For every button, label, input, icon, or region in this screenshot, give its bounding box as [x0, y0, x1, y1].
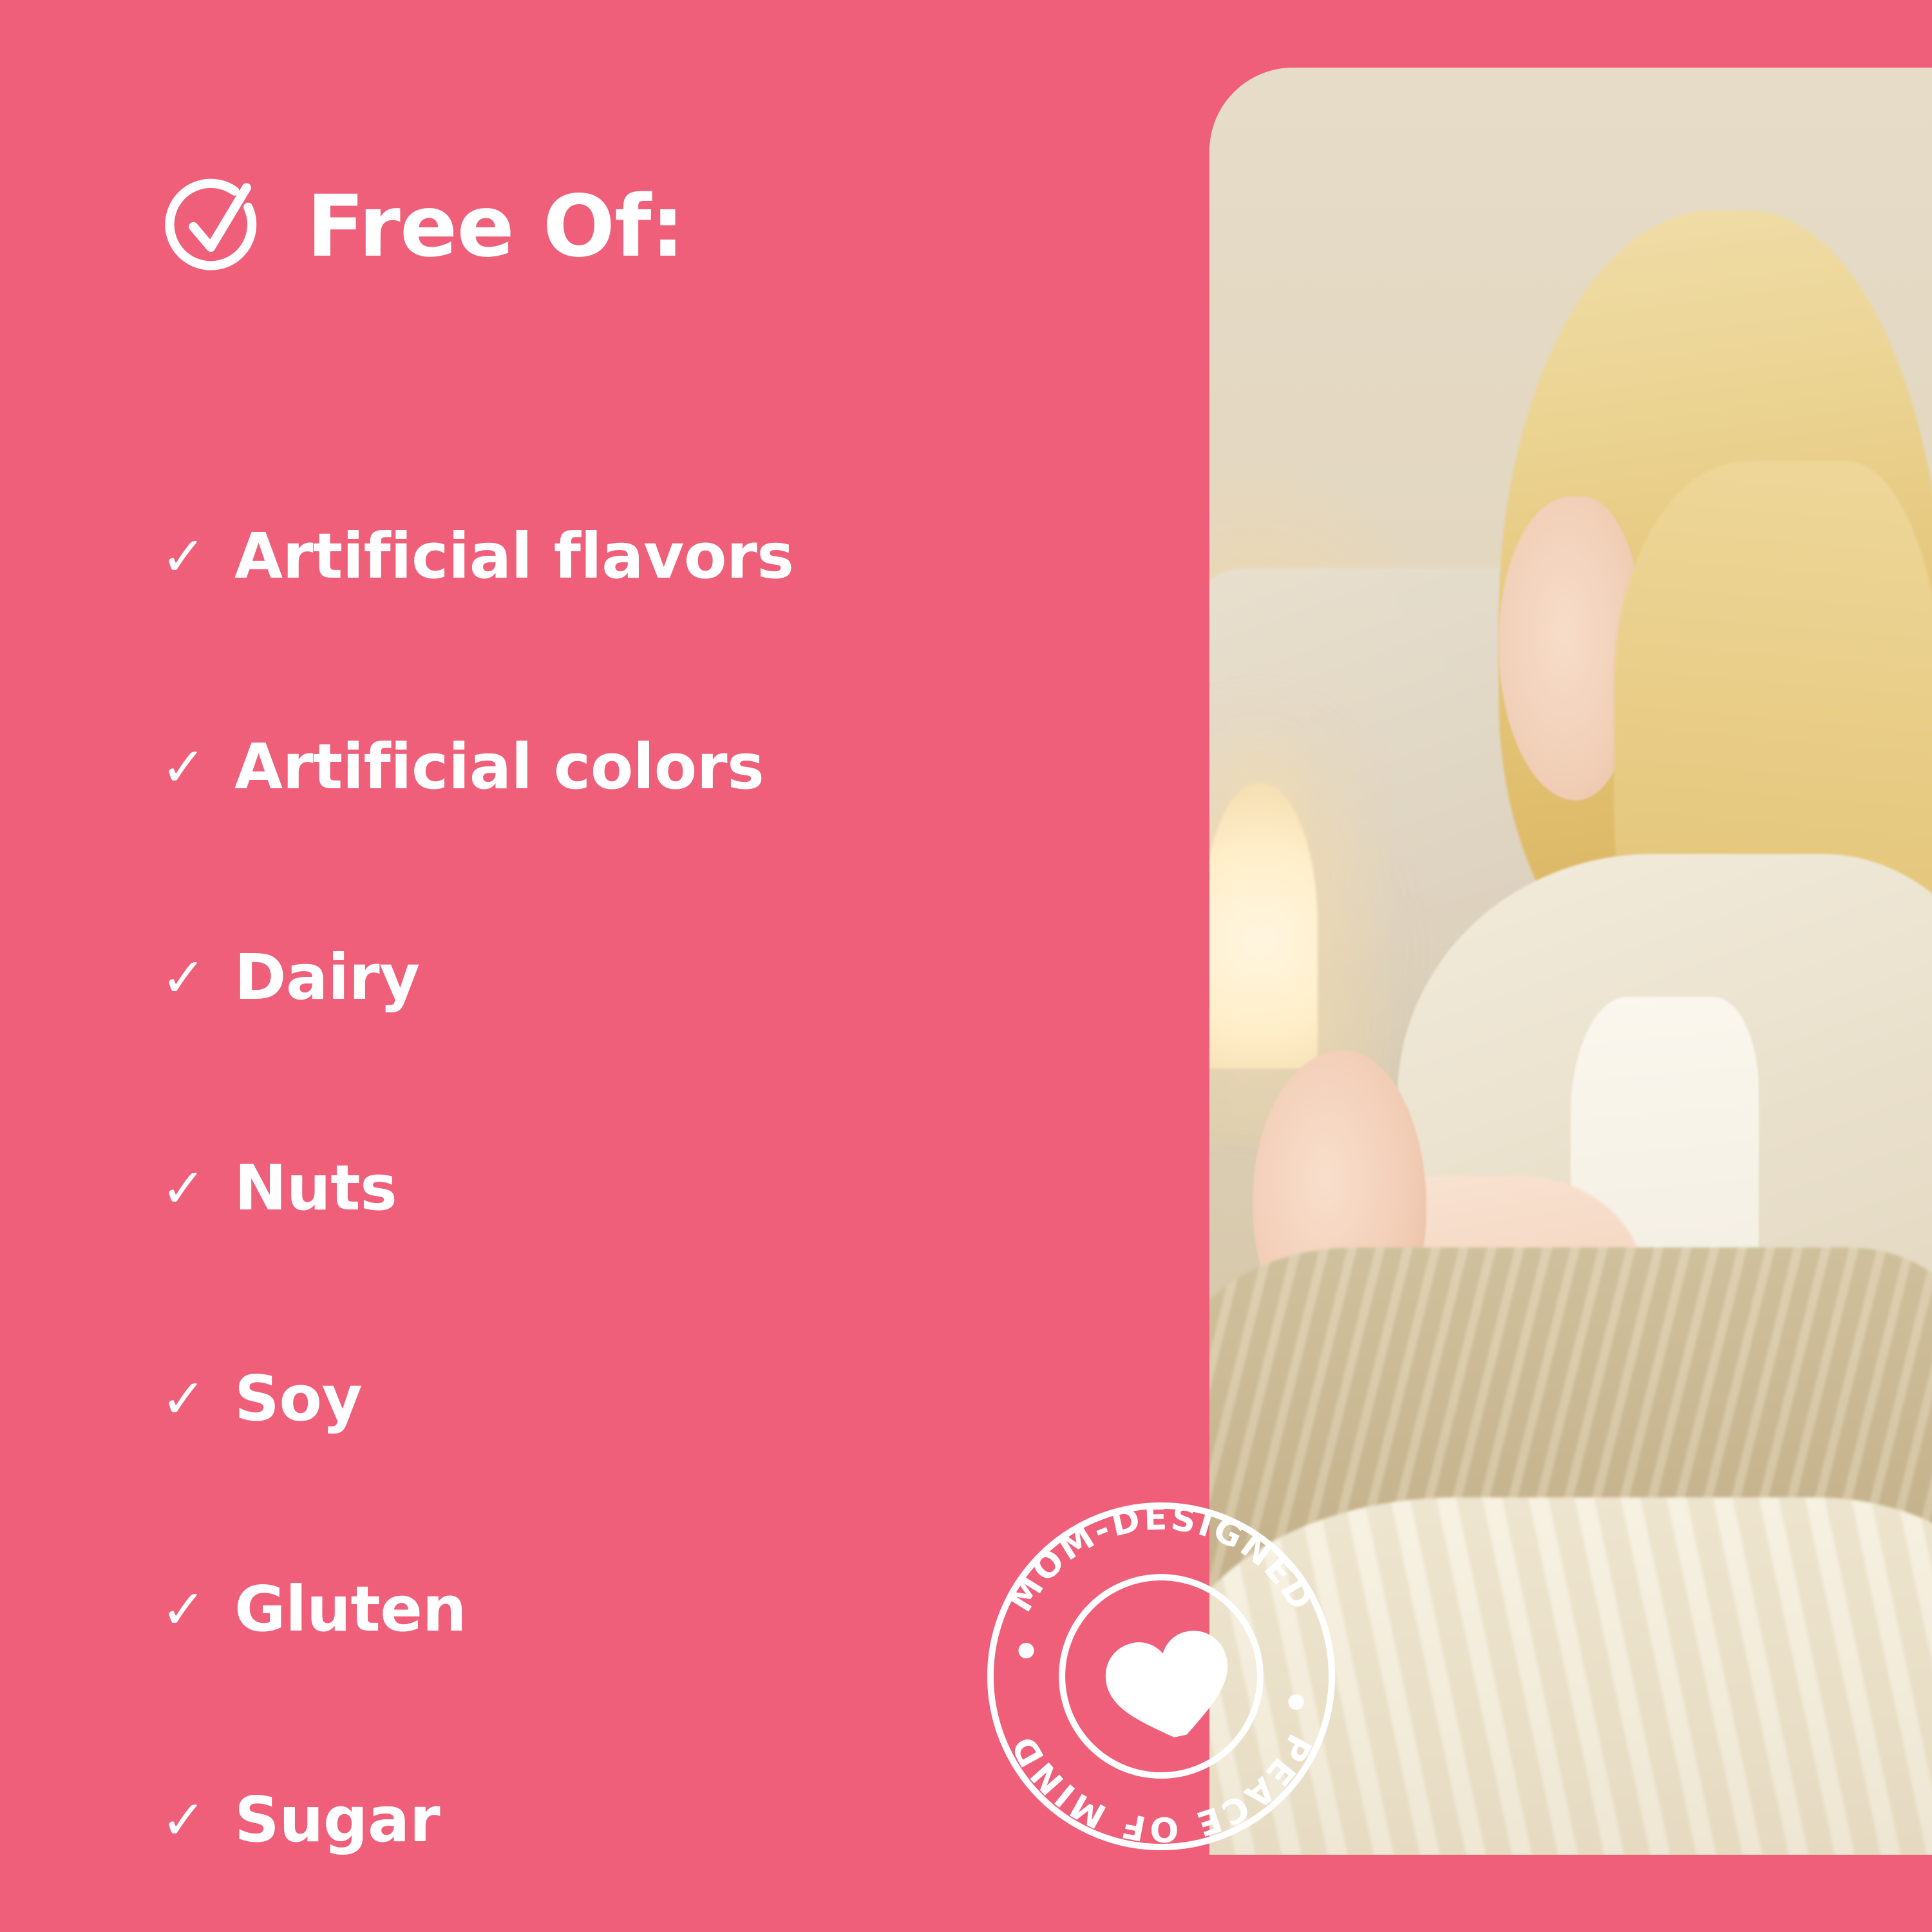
list-item: ✓ Nuts — [160, 1083, 1164, 1293]
list-item-label: Artificial flavors — [234, 525, 794, 587]
badge-dot-left-icon — [1018, 1643, 1034, 1658]
list-item: ✓ Soy — [160, 1293, 1164, 1504]
list-item: ✓ Artificial flavors — [160, 451, 1164, 661]
check-icon: ✓ — [160, 1793, 207, 1847]
circle-check-icon — [161, 173, 269, 281]
badge-top-arc-text: MOM-DESIGNED — [1001, 1499, 1322, 1619]
heart-icon — [1099, 1625, 1240, 1749]
check-icon: ✓ — [160, 529, 207, 583]
check-icon: ✓ — [160, 1161, 207, 1215]
list-item: ✓ Dairy — [160, 872, 1164, 1083]
page-title: Free Of: — [307, 184, 684, 269]
list-item: ✓ Artificial colors — [160, 661, 1164, 872]
check-icon: ✓ — [160, 1582, 207, 1636]
list-item-label: Dairy — [234, 946, 420, 1009]
list-item-label: Soy — [234, 1367, 362, 1430]
list-item-label: Nuts — [234, 1157, 397, 1219]
badge-svg: MOM-DESIGNED PEACE OF MIND — [978, 1493, 1345, 1860]
header-row: Free Of: — [161, 173, 684, 281]
check-icon: ✓ — [160, 740, 207, 794]
list-item-label: Sugar — [234, 1788, 440, 1851]
check-icon: ✓ — [160, 951, 207, 1005]
list-item-label: Gluten — [234, 1578, 466, 1640]
badge-bottom-arc-text: PEACE OF MIND — [1003, 1728, 1320, 1849]
promo-canvas: Free Of: ✓ Artificial flavors ✓ Artifici… — [0, 0, 1932, 1932]
list-item-label: Artificial colors — [234, 735, 764, 798]
badge-dot-right-icon — [1288, 1694, 1303, 1710]
check-icon: ✓ — [160, 1372, 207, 1426]
mom-designed-badge: MOM-DESIGNED PEACE OF MIND — [978, 1493, 1345, 1860]
